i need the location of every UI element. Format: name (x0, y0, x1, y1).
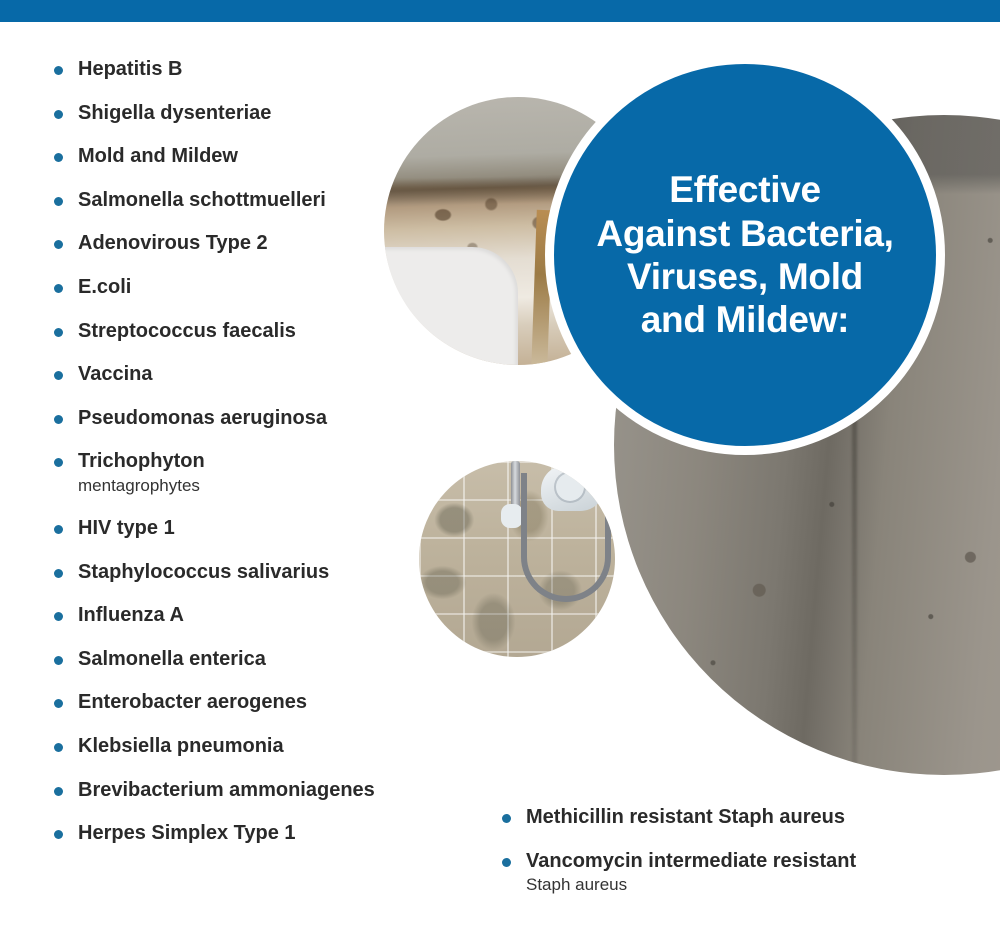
bullet-dot-icon (502, 814, 511, 823)
photo-moldy-shower-tiles (419, 461, 615, 657)
headline-badge: Effective Against Bacteria, Viruses, Mol… (545, 55, 945, 455)
pathogen-item: HIV type 1 (46, 517, 446, 541)
bullet-dot-icon (54, 415, 63, 424)
pathogen-item: Salmonella enterica (46, 648, 446, 672)
shower-hose (521, 473, 611, 602)
pathogen-item: Streptococcus faecalis (46, 320, 446, 344)
bullet-dot-icon (54, 525, 63, 534)
pathogen-extra-sublabel: Staph aureus (526, 874, 964, 896)
headline-line-2: Against Bacteria, (596, 213, 893, 254)
pathogen-extra-label: Vancomycin intermediate resistant (526, 850, 964, 874)
bullet-dot-icon (54, 830, 63, 839)
pathogen-label: Vaccina (78, 363, 446, 387)
pathogen-label: Trichophyton (78, 450, 446, 474)
bullet-dot-icon (54, 110, 63, 119)
headline-line-3: Viruses, Mold (627, 256, 863, 297)
pathogen-item: Hepatitis B (46, 58, 446, 82)
pathogen-extra-item: Vancomycin intermediate resistantStaph a… (494, 850, 964, 897)
bullet-dot-icon (54, 240, 63, 249)
pathogen-label: Klebsiella pneumonia (78, 735, 446, 759)
headline-text: Effective Against Bacteria, Viruses, Mol… (574, 168, 915, 341)
pathogen-list-extra: Methicillin resistant Staph aureusVancom… (494, 806, 964, 916)
bullet-dot-icon (54, 458, 63, 467)
bullet-dot-icon (54, 328, 63, 337)
pathogen-label: Salmonella schottmuelleri (78, 189, 446, 213)
bullet-dot-icon (54, 371, 63, 380)
pathogen-item: Influenza A (46, 604, 446, 628)
pathogen-label: Salmonella enterica (78, 648, 446, 672)
pathogen-item: Herpes Simplex Type 1 (46, 822, 446, 846)
pathogen-label: E.coli (78, 276, 446, 300)
pathogen-label: Staphylococcus salivarius (78, 561, 446, 585)
bullet-dot-icon (54, 153, 63, 162)
pathogen-label: Mold and Mildew (78, 145, 446, 169)
pathogen-item: Mold and Mildew (46, 145, 446, 169)
bullet-dot-icon (54, 699, 63, 708)
pathogen-list-main: Hepatitis BShigella dysenteriaeMold and … (46, 58, 446, 866)
pathogen-label: Influenza A (78, 604, 446, 628)
pathogen-item: Salmonella schottmuelleri (46, 189, 446, 213)
pathogen-item: Vaccina (46, 363, 446, 387)
pathogen-sublabel: mentagrophytes (78, 475, 446, 497)
pathogen-label: HIV type 1 (78, 517, 446, 541)
pathogen-label: Enterobacter aerogenes (78, 691, 446, 715)
headline-line-1: Effective (669, 169, 821, 210)
pathogen-label: Pseudomonas aeruginosa (78, 407, 446, 431)
bullet-dot-icon (54, 66, 63, 75)
bullet-dot-icon (54, 787, 63, 796)
pathogen-label: Herpes Simplex Type 1 (78, 822, 446, 846)
bullet-dot-icon (54, 743, 63, 752)
bullet-dot-icon (54, 284, 63, 293)
pathogen-item: Adenovirous Type 2 (46, 232, 446, 256)
top-accent-bar (0, 0, 1000, 22)
pathogen-extra-item: Methicillin resistant Staph aureus (494, 806, 964, 830)
pathogen-item: Pseudomonas aeruginosa (46, 407, 446, 431)
pathogen-item: Shigella dysenteriae (46, 102, 446, 126)
pathogen-item: Trichophytonmentagrophytes (46, 450, 446, 497)
pathogen-item: Brevibacterium ammoniagenes (46, 779, 446, 803)
bullet-dot-icon (502, 858, 511, 867)
pathogen-label: Shigella dysenteriae (78, 102, 446, 126)
pathogen-item: E.coli (46, 276, 446, 300)
pathogen-label: Hepatitis B (78, 58, 446, 82)
bullet-dot-icon (54, 197, 63, 206)
pathogen-label: Brevibacterium ammoniagenes (78, 779, 446, 803)
infographic-page: Effective Against Bacteria, Viruses, Mol… (0, 0, 1000, 938)
pathogen-item: Enterobacter aerogenes (46, 691, 446, 715)
pathogen-extra-label: Methicillin resistant Staph aureus (526, 806, 964, 830)
pathogen-label: Adenovirous Type 2 (78, 232, 446, 256)
pathogen-label: Streptococcus faecalis (78, 320, 446, 344)
headline-line-4: and Mildew: (641, 299, 849, 340)
pathogen-item: Klebsiella pneumonia (46, 735, 446, 759)
bullet-dot-icon (54, 612, 63, 621)
pathogen-item: Staphylococcus salivarius (46, 561, 446, 585)
bullet-dot-icon (54, 569, 63, 578)
bullet-dot-icon (54, 656, 63, 665)
